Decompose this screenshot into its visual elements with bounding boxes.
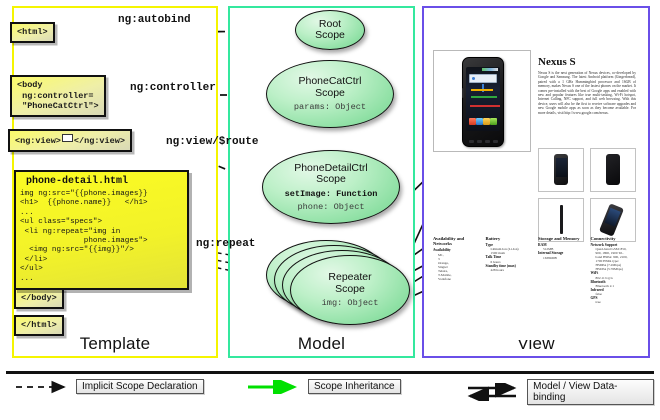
- spec-value: 428 hours: [486, 268, 535, 272]
- scope-repeater: RepeaterScope img: Object: [290, 255, 410, 325]
- detail-note-filename: phone-detail.html: [20, 175, 183, 190]
- phone-app-icon-3: [483, 118, 490, 125]
- phone-search-widget: [469, 74, 497, 83]
- panel-label-template: Template: [14, 334, 216, 354]
- phone-statusbar-icon: [482, 68, 498, 71]
- code-box-ngview: <ng:view></ng:view>: [8, 129, 132, 152]
- ngview-close-tag: </ng:view>: [74, 136, 125, 146]
- legend-item-scope-inheritance: Scope Inheritance: [246, 379, 401, 394]
- spec-column-availability: Availability and Networks Availability M…: [433, 236, 482, 304]
- ngview-placeholder-icon: [62, 134, 73, 142]
- double-arrow-icon: [466, 383, 521, 401]
- spec-header: Storage and Memory: [538, 236, 587, 241]
- green-arrow-icon: [246, 380, 302, 394]
- phone-button-menu-icon: [485, 140, 490, 143]
- scope-catctrl-line2: Scope: [315, 87, 345, 99]
- phone-app-icon-1: [469, 118, 476, 125]
- phone-angle-icon: [599, 203, 624, 236]
- legend-item-implicit-scope: Implicit Scope Declaration: [14, 379, 204, 394]
- scope-phonecatctrl: PhoneCatCtrlScope params: Object: [266, 60, 394, 128]
- spec-header: Connectivity: [591, 236, 640, 241]
- edge-label-ngview-route: ng:view/$route: [166, 136, 258, 148]
- thumbnail-grid: [538, 148, 638, 248]
- edge-label-controller: ng:controller: [130, 82, 216, 94]
- phone-button-search-icon: [493, 140, 498, 143]
- code-box-html-close: </html>: [14, 315, 64, 336]
- legend-label-scope-inheritance: Scope Inheritance: [308, 379, 401, 394]
- phone-wallpaper-line-3: [470, 105, 500, 107]
- phone-edge-icon: [560, 205, 563, 234]
- scope-repeater-prop-img: img: Object: [322, 298, 379, 308]
- spec-value: Vodafone: [433, 277, 482, 281]
- phone-wallpaper-line-1: [471, 89, 493, 91]
- phone-side-button-icon: [462, 88, 464, 98]
- phone-wallpaper-line-4: [482, 84, 484, 92]
- legend-label-data-binding: Model / View Data-binding: [527, 379, 654, 405]
- legend-label-implicit-scope: Implicit Scope Declaration: [76, 379, 204, 394]
- rendered-view-page: Nexus S Nexus S is the next generation o…: [430, 14, 642, 340]
- code-box-body-close: </body>: [14, 288, 64, 309]
- phone-app-icon-4: [490, 118, 497, 125]
- phone-front-icon: [554, 154, 568, 185]
- scope-root-line1: Root: [319, 18, 341, 30]
- spec-value: 16384MB: [538, 256, 587, 260]
- ngview-open-tag: <ng:view>: [15, 136, 61, 146]
- scope-root: RootScope: [295, 10, 365, 50]
- code-box-body-open: <body ng:controller= "PhoneCatCtrl">: [10, 75, 106, 117]
- spec-column-battery: Battery Type Lithium Ion (Li-Ion) 1500 m…: [486, 236, 535, 304]
- scope-detailctrl-line1: PhoneDetailCtrl: [294, 162, 368, 174]
- scope-catctrl-line1: PhoneCatCtrl: [298, 75, 361, 87]
- panel-label-model: Model: [230, 334, 413, 354]
- edge-label-autobind: ng:autobind: [118, 14, 191, 26]
- phone-screen: [466, 67, 500, 131]
- phone-back-icon: [606, 154, 620, 185]
- thumbnail-phone-front[interactable]: [538, 148, 584, 192]
- product-description: Nexus S is the next generation of Nexus …: [538, 71, 636, 115]
- scope-phonedetailctrl: PhoneDetailCtrlScope setImage: Function …: [262, 150, 400, 224]
- scope-repeater-line2: Scope: [335, 283, 365, 295]
- detail-note-code: img ng:src="{{phone.images}} <h1> {{phon…: [20, 190, 183, 284]
- spec-header: Battery: [486, 236, 535, 241]
- product-title: Nexus S: [538, 56, 576, 68]
- spec-header: Availability and Networks: [433, 236, 482, 246]
- scope-detailctrl-prop-phone: phone: Object: [297, 202, 364, 212]
- spec-table: Availability and Networks Availability M…: [433, 236, 639, 304]
- phone-button-back-icon: [469, 140, 474, 143]
- legend: Implicit Scope Declaration Scope Inherit…: [6, 379, 654, 403]
- phone-app-icon-2: [476, 118, 483, 125]
- phone-hero-image-frame: [433, 50, 531, 152]
- thumbnail-row: [538, 148, 638, 192]
- spec-column-storage: Storage and Memory RAM 512MB Internal St…: [538, 236, 587, 304]
- code-box-html-open: <html>: [10, 22, 55, 43]
- scope-catctrl-prop-params: params: Object: [294, 102, 366, 112]
- dashed-arrow-icon: [14, 380, 70, 394]
- phone-hardware-buttons: [467, 139, 499, 144]
- thumbnail-phone-back[interactable]: [590, 148, 636, 192]
- diagram-canvas: Template <html> <body ng:controller= "Ph…: [0, 0, 660, 420]
- scope-root-line2: Scope: [315, 29, 345, 41]
- edge-label-repeat: ng:repeat: [196, 238, 255, 250]
- phone-app-dock: [469, 117, 497, 126]
- template-detail-note: phone-detail.html img ng:src="{{phone.im…: [14, 170, 189, 290]
- legend-item-data-binding: Model / View Data-binding: [466, 379, 654, 405]
- legend-divider: [6, 371, 654, 374]
- phone-button-home-icon: [477, 140, 482, 143]
- phone-hero-image: [462, 57, 504, 147]
- phone-wallpaper-line-2: [471, 96, 497, 98]
- spec-value: true: [591, 300, 640, 304]
- spec-column-connectivity: Connectivity Network Support Quad-band G…: [591, 236, 640, 304]
- scope-detailctrl-prop-setimage: setImage: Function: [285, 189, 378, 199]
- scope-repeater-line1: Repeater: [328, 271, 371, 283]
- scope-detailctrl-line2: Scope: [316, 173, 346, 185]
